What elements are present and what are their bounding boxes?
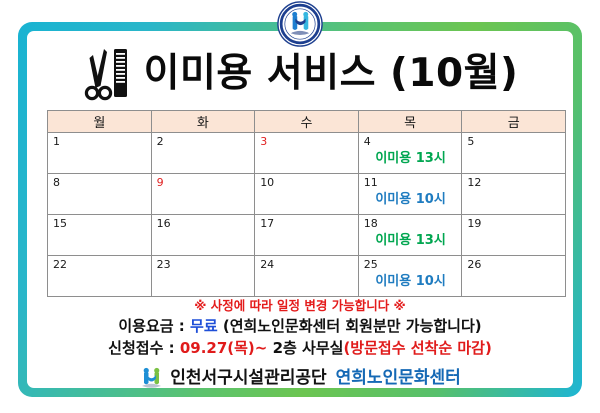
calendar-day-cell[interactable]: 11이미용 10시: [358, 174, 462, 215]
application-date: 09.27(목)~: [180, 339, 268, 357]
calendar-day-cell[interactable]: 2: [151, 133, 255, 174]
day-number: 2: [157, 135, 255, 148]
calendar-week-row: 891011이미용 10시12: [48, 174, 566, 215]
calendar-day-cell[interactable]: 9: [151, 174, 255, 215]
day-number: 3: [260, 135, 358, 148]
application-label: 신청접수 :: [108, 339, 180, 357]
calendar-table: 월 화 수 목 금 1234이미용 13시5891011이미용 10시12151…: [47, 110, 566, 297]
calendar-header-row: 월 화 수 목 금: [48, 111, 566, 133]
poster-root: 이미용 서비스 (10월) 월 화 수 목 금 1234이미용 13시58910…: [0, 0, 600, 413]
column-header-thu: 목: [358, 111, 462, 133]
day-number: 12: [467, 176, 565, 189]
scissors-comb-icon: [82, 45, 134, 101]
calendar-day-cell[interactable]: 3: [255, 133, 359, 174]
calendar-body: 1234이미용 13시5891011이미용 10시1215161718이미용 1…: [48, 133, 566, 297]
calendar-week-row: 22232425이미용 10시26: [48, 256, 566, 297]
footer-center-name: 연희노인문화센터: [336, 370, 461, 387]
fee-line: 이용요금 : 무료 (연희노인문화센터 회원분만 가능합니다): [27, 315, 573, 337]
day-event-label: 이미용 10시: [364, 273, 458, 290]
notes-block: ※ 사정에 따라 일정 변경 가능합니다 ※ 이용요금 : 무료 (연희노인문화…: [27, 296, 573, 359]
column-header-mon: 월: [48, 111, 152, 133]
two-people-logo-icon: [139, 367, 164, 390]
calendar-day-cell[interactable]: 18이미용 13시: [358, 215, 462, 256]
fee-condition: (연희노인문화센터 회원분만 가능합니다): [218, 317, 482, 335]
calendar-day-cell[interactable]: 25이미용 10시: [358, 256, 462, 297]
day-number: 1: [53, 135, 151, 148]
schedule-change-warning: ※ 사정에 따라 일정 변경 가능합니다 ※: [27, 296, 573, 315]
footer-organization-name: 인천서구시설관리공단: [170, 370, 326, 387]
day-number: 19: [467, 217, 565, 230]
day-number: 22: [53, 258, 151, 271]
day-event-label: 이미용 13시: [364, 150, 458, 167]
application-line: 신청접수 : 09.27(목)~ 2층 사무실(방문접수 선착순 마감): [27, 337, 573, 359]
calendar-day-cell[interactable]: 12: [462, 174, 566, 215]
calendar-day-cell[interactable]: 8: [48, 174, 152, 215]
calendar-wrapper: 월 화 수 목 금 1234이미용 13시5891011이미용 10시12151…: [47, 110, 566, 297]
day-number: 25: [364, 258, 462, 271]
day-number: 23: [157, 258, 255, 271]
day-number: 8: [53, 176, 151, 189]
day-number: 11: [364, 176, 462, 189]
day-number: 18: [364, 217, 462, 230]
day-number: 17: [260, 217, 358, 230]
day-number: 24: [260, 258, 358, 271]
application-note: (방문접수 선착순 마감): [343, 339, 491, 357]
calendar-day-cell[interactable]: 26: [462, 256, 566, 297]
day-number: 5: [467, 135, 565, 148]
calendar-day-cell[interactable]: 23: [151, 256, 255, 297]
day-number: 26: [467, 258, 565, 271]
poster-content: 이미용 서비스 (10월) 월 화 수 목 금 1234이미용 13시58910…: [27, 31, 573, 388]
column-header-wed: 수: [255, 111, 359, 133]
fee-label: 이용요금 :: [118, 317, 190, 335]
calendar-day-cell[interactable]: 22: [48, 256, 152, 297]
page-title: 이미용 서비스 (10월): [144, 54, 519, 93]
calendar-day-cell[interactable]: 17: [255, 215, 359, 256]
day-number: 10: [260, 176, 358, 189]
calendar-day-cell[interactable]: 5: [462, 133, 566, 174]
fee-value: 무료: [190, 317, 218, 335]
day-number: 16: [157, 217, 255, 230]
column-header-tue: 화: [151, 111, 255, 133]
column-header-fri: 금: [462, 111, 566, 133]
calendar-day-cell[interactable]: 4이미용 13시: [358, 133, 462, 174]
calendar-day-cell[interactable]: 10: [255, 174, 359, 215]
calendar-day-cell[interactable]: 15: [48, 215, 152, 256]
calendar-day-cell[interactable]: 19: [462, 215, 566, 256]
calendar-week-row: 15161718이미용 13시19: [48, 215, 566, 256]
day-number: 9: [157, 176, 255, 189]
calendar-day-cell[interactable]: 24: [255, 256, 359, 297]
day-event-label: 이미용 13시: [364, 232, 458, 249]
application-location: 2층 사무실: [267, 339, 343, 357]
day-number: 15: [53, 217, 151, 230]
footer-branding: 인천서구시설관리공단 연희노인문화센터: [27, 367, 573, 390]
calendar-day-cell[interactable]: 16: [151, 215, 255, 256]
day-event-label: 이미용 10시: [364, 191, 458, 208]
incheon-seo-gu-facilities-emblem-icon: [277, 1, 323, 47]
calendar-day-cell[interactable]: 1: [48, 133, 152, 174]
day-number: 4: [364, 135, 462, 148]
calendar-week-row: 1234이미용 13시5: [48, 133, 566, 174]
title-row: 이미용 서비스 (10월): [27, 42, 573, 104]
